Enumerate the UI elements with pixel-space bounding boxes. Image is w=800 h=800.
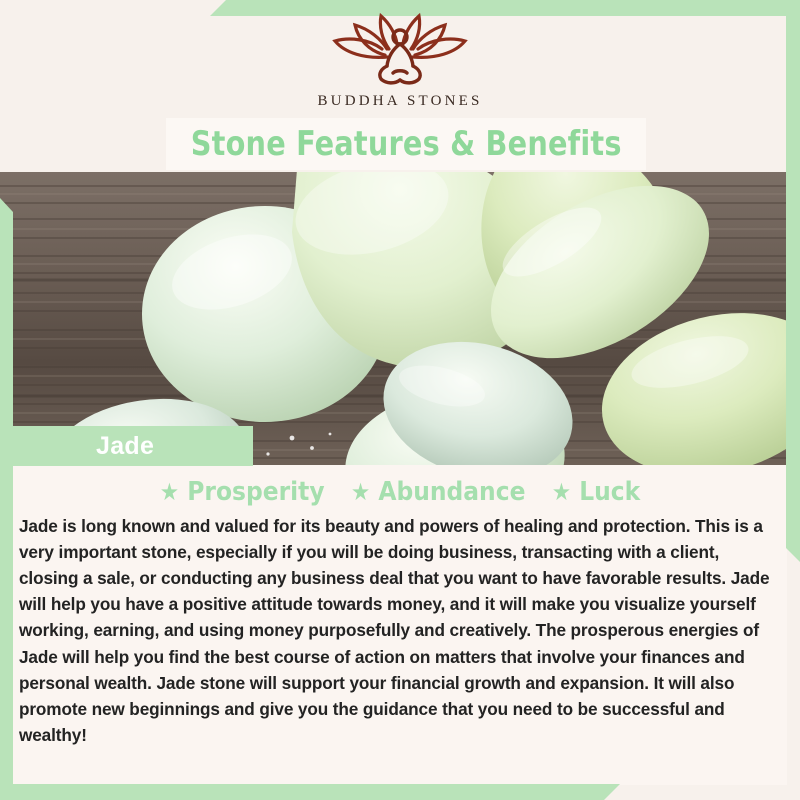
star-icon: ★: [351, 478, 370, 506]
benefit-abundance: Abundance: [378, 477, 525, 507]
benefits-row: ★ Prosperity ★ Abundance ★ Luck: [13, 465, 787, 507]
title-banner: Stone Features & Benefits: [166, 118, 646, 170]
stone-photo: [0, 172, 800, 465]
benefit-luck: Luck: [579, 477, 640, 507]
poster: BUDDHA STONES Stone Features & Benefits: [0, 0, 800, 800]
brand-header: BUDDHA STONES: [0, 0, 800, 120]
star-icon: ★: [552, 478, 571, 506]
stone-photo-illustration: [0, 172, 800, 465]
lotus-meditation-icon: [325, 11, 475, 89]
frame-accent-left: [0, 198, 13, 800]
brand-name: BUDDHA STONES: [317, 93, 482, 110]
benefit-prosperity: Prosperity: [187, 477, 324, 507]
content-panel: ★ Prosperity ★ Abundance ★ Luck Jade is …: [13, 465, 787, 785]
description-text: Jade is long known and valued for its be…: [13, 507, 783, 748]
page-title: Stone Features & Benefits: [191, 124, 622, 164]
stone-name-bar: Jade: [13, 426, 253, 466]
stone-name-label: Jade: [96, 432, 154, 461]
frame-accent-bottom-left: [0, 784, 620, 800]
star-icon: ★: [160, 478, 179, 506]
